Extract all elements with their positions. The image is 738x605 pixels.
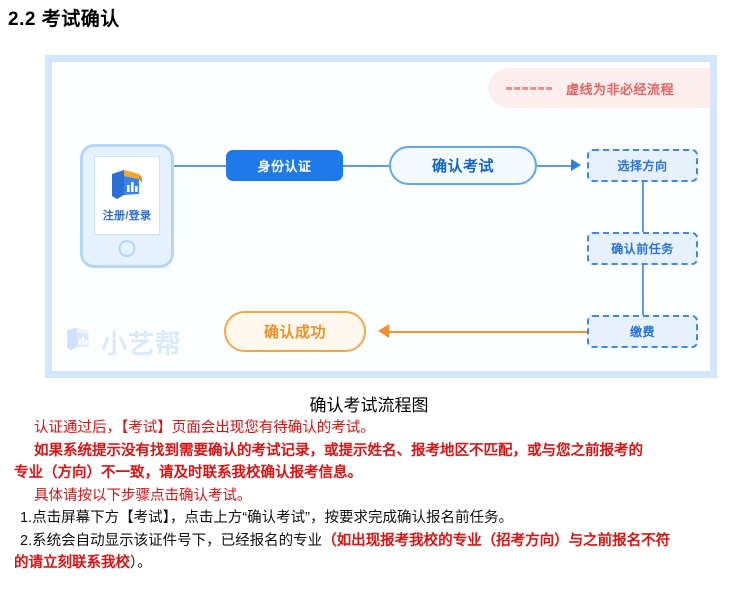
legend-label: 虚线为非必经流程: [566, 79, 674, 98]
body-text-block: 认证通过后，【考试】页面会出现您有待确认的考试。 如果系统提示没有找到需要确认的…: [0, 417, 738, 575]
node-confirm-success-label: 确认成功: [264, 321, 326, 342]
paragraph-3: 具体请按以下步骤点击确认考试。: [0, 485, 738, 508]
node-choose-direction[interactable]: 选择方向: [587, 149, 698, 182]
paragraph-2-line-1: 如果系统提示没有找到需要确认的考试记录，或提示姓名、报考地区不匹配，或与您之前报…: [0, 440, 738, 463]
paragraph-6-black-part: ）。: [130, 555, 152, 571]
home-button-icon: [119, 240, 136, 257]
dashed-line-icon: [506, 87, 552, 90]
flowchart-panel: 虚线为非必经流程 注册/登录: [45, 55, 717, 378]
paragraph-5: 2.系统会自动显示该证件号下，已经报名的专业（如出现报考我校的专业（招考方向）与…: [0, 530, 738, 553]
figure-caption: 确认考试流程图: [0, 391, 738, 416]
arrow-right-icon: [571, 159, 581, 171]
paragraph-2-line-2: 专业（方向）不一致，请及时联系我校确认报考信息。: [0, 462, 738, 485]
arrow-left-icon: [378, 324, 389, 338]
paragraph-6-red-part: 的请立刻联系我校: [14, 555, 130, 571]
node-choose-direction-label: 选择方向: [617, 157, 667, 174]
node-identity-auth[interactable]: 身份认证: [226, 150, 343, 181]
node-pre-confirm-task-label: 确认前任务: [611, 240, 674, 257]
paragraph-5-red-part: （如出现报考我校的专业（招考方向）与之前报名不符: [322, 533, 670, 549]
connector-task-to-payment: [642, 265, 644, 315]
node-payment-label: 缴费: [630, 323, 655, 340]
connector-identity-to-confirm: [343, 165, 389, 167]
node-confirm-exam-label: 确认考试: [432, 155, 494, 176]
xiaoyibang-logo-icon: [108, 169, 146, 203]
node-payment[interactable]: 缴费: [587, 315, 698, 348]
connector-phone-to-identity: [174, 165, 226, 167]
paragraph-1: 认证通过后，【考试】页面会出现您有待确认的考试。: [0, 417, 738, 440]
node-confirm-exam[interactable]: 确认考试: [389, 146, 537, 185]
watermark-label: 小艺帮: [101, 324, 182, 361]
node-identity-auth-label: 身份认证: [257, 156, 311, 175]
paragraph-5-black-part: 2.系统会自动显示该证件号下，已经报名的专业: [20, 533, 322, 549]
watermark-logo-icon: [64, 326, 94, 359]
legend-badge: 虚线为非必经流程: [488, 68, 710, 108]
paragraph-6: 的请立刻联系我校）。: [0, 552, 738, 575]
phone-device: 注册/登录: [80, 144, 174, 268]
connector-direction-to-task: [642, 182, 644, 232]
connector-confirm-to-direction: [537, 165, 571, 167]
flowchart-canvas: 虚线为非必经流程 注册/登录: [52, 62, 710, 371]
phone-screen: 注册/登录: [94, 156, 160, 235]
node-confirm-success[interactable]: 确认成功: [224, 311, 366, 352]
phone-label: 注册/登录: [103, 207, 152, 223]
connector-payment-to-success: [389, 331, 587, 333]
node-pre-confirm-task[interactable]: 确认前任务: [587, 232, 698, 265]
watermark: 小艺帮: [64, 324, 182, 361]
page-title: 2.2 考试确认: [8, 6, 738, 34]
paragraph-4: 1.点击屏幕下方【考试】，点击上方“确认考试”，按要求完成确认报名前任务。: [0, 507, 738, 530]
